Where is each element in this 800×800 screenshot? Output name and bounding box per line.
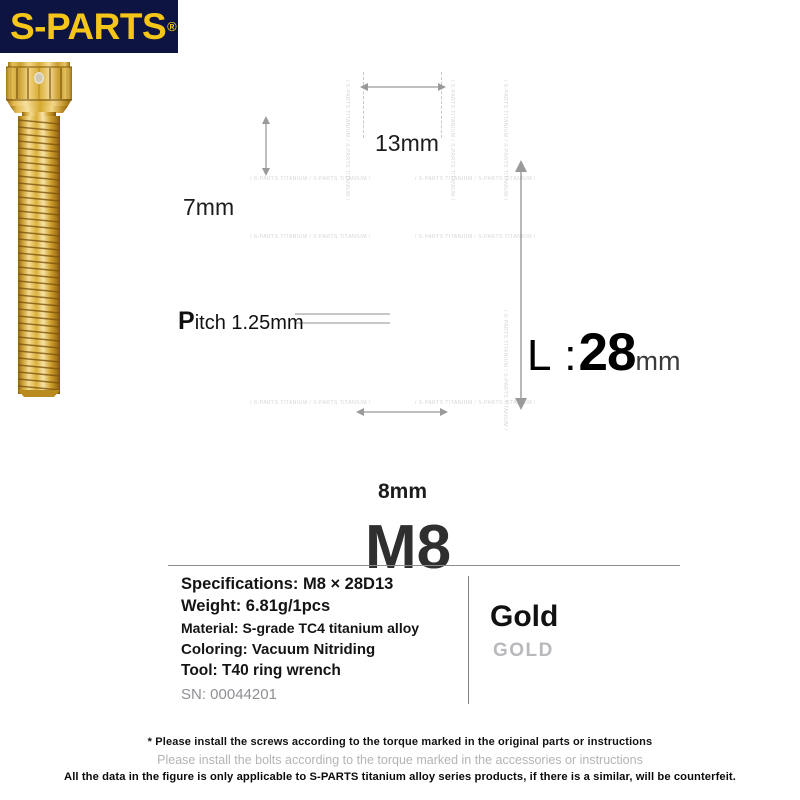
spec-tool: Tool: T40 ring wrench	[181, 662, 461, 680]
pitch-initial: P	[178, 307, 195, 335]
color-option-code: GOLD	[493, 640, 670, 662]
footer-line-2: Please install the bolts according to th…	[0, 753, 800, 767]
spec-specifications: Specifications: M8 × 28D13	[181, 575, 461, 594]
dimension-label-length: L :28mm	[527, 322, 680, 383]
spec-material: Material: S-grade TC4 titanium alloy	[181, 620, 461, 636]
dimension-label-shaft-diameter: 8mm	[378, 480, 427, 504]
dimension-label-head-height: 7mm	[183, 194, 234, 221]
watermark-text: / S-PARTS TITANIUM / S-PARTS TITANIUM /	[449, 80, 455, 201]
bolt-head-graphic	[0, 60, 78, 118]
bolt-threaded-shaft-graphic	[18, 116, 60, 398]
footer-disclaimer: * Please install the screws according to…	[0, 736, 800, 783]
spec-divider-horizontal	[168, 565, 680, 566]
watermark-text: / S-PARTS TITANIUM / S-PARTS TITANIUM /	[250, 176, 371, 182]
specification-list: Specifications: M8 × 28D13 Weight: 6.81g…	[181, 575, 461, 703]
spec-serial-number: SN: 00044201	[181, 686, 461, 703]
spec-divider-vertical	[468, 576, 469, 704]
footer-line-3: All the data in the figure is only appli…	[0, 771, 800, 783]
watermark-text: / S-PARTS TITANIUM / S-PARTS TITANIUM /	[250, 400, 371, 406]
dimension-arrow-8mm	[356, 405, 448, 419]
dimension-label-head-width: 13mm	[375, 130, 439, 157]
color-option-name: Gold	[490, 600, 670, 633]
watermark-text: / S-PARTS TITANIUM / S-PARTS TITANIUM /	[250, 234, 371, 240]
brand-logo: S-PARTS®	[0, 0, 178, 53]
spec-weight: Weight: 6.81g/1pcs	[181, 597, 461, 616]
length-prefix: L :	[527, 331, 579, 380]
product-diagram: / S-PARTS TITANIUM / S-PARTS TITANIUM / …	[0, 60, 800, 530]
watermark-text: / S-PARTS TITANIUM / S-PARTS TITANIUM /	[502, 310, 508, 431]
brand-logo-text: S-PARTS	[10, 8, 166, 45]
registered-trademark-icon: ®	[167, 20, 177, 33]
pitch-value: itch 1.25mm	[195, 312, 304, 334]
length-unit: mm	[635, 346, 680, 376]
footer-line-1: * Please install the screws according to…	[0, 736, 800, 748]
color-option: Gold GOLD	[490, 600, 670, 662]
length-value: 28	[579, 323, 636, 382]
dimension-arrow-13mm	[360, 80, 446, 94]
dimension-arrow-7mm	[259, 116, 273, 176]
thread-size-label: M8	[365, 512, 451, 583]
dimension-label-pitch: Pitch 1.25mm	[178, 307, 304, 336]
pitch-leader-lines	[295, 310, 390, 328]
watermark-text: / S-PARTS TITANIUM / S-PARTS TITANIUM /	[344, 80, 350, 201]
watermark-text: / S-PARTS TITANIUM / S-PARTS TITANIUM /	[502, 80, 508, 201]
spec-coloring: Coloring: Vacuum Nitriding	[181, 641, 461, 658]
